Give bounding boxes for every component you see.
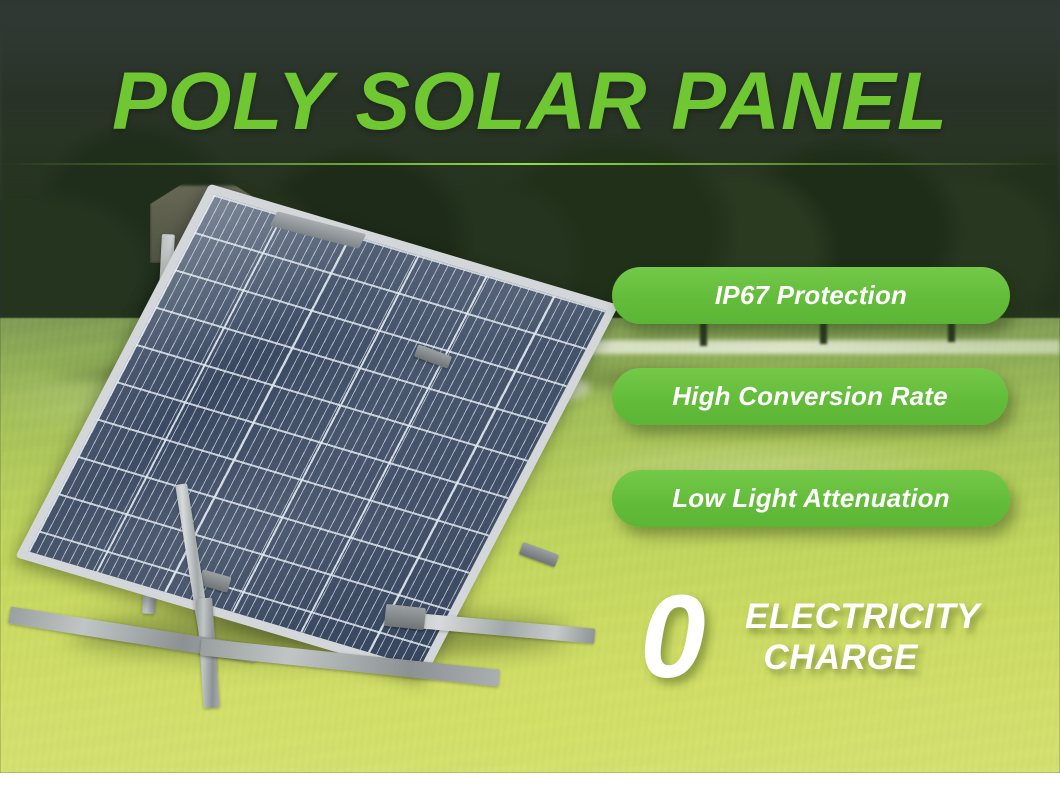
feature-pill-label: High Conversion Rate: [672, 381, 948, 412]
panel-side-clamp: [519, 542, 559, 567]
header-divider-line: [0, 163, 1060, 165]
zero-charge-number: 0: [640, 578, 706, 696]
zero-charge-label: ELECTRICITY CHARGE: [745, 596, 1000, 678]
feature-pill-light-attenuation[interactable]: Low Light Attenuation: [612, 470, 1010, 527]
solar-panel-product-image: [40, 218, 620, 698]
base-foot-bracket: [384, 604, 426, 630]
feature-pill-label: Low Light Attenuation: [672, 483, 950, 514]
feature-pill-ip67[interactable]: IP67 Protection: [612, 267, 1010, 324]
solar-panel-face: [15, 184, 618, 679]
solar-cell-array: [28, 194, 606, 667]
glass-reflection: [28, 194, 606, 667]
zero-charge-line-2: CHARGE: [745, 637, 1000, 678]
footer-whitespace: [0, 773, 1060, 790]
feature-pill-label: IP67 Protection: [715, 280, 907, 311]
zero-charge-line-1: ELECTRICITY: [745, 596, 1000, 637]
feature-pill-conversion-rate[interactable]: High Conversion Rate: [612, 368, 1008, 425]
page-title: POLY SOLAR PANEL: [0, 58, 1060, 146]
promo-banner: POLY SOLAR PANEL: [0, 0, 1060, 773]
